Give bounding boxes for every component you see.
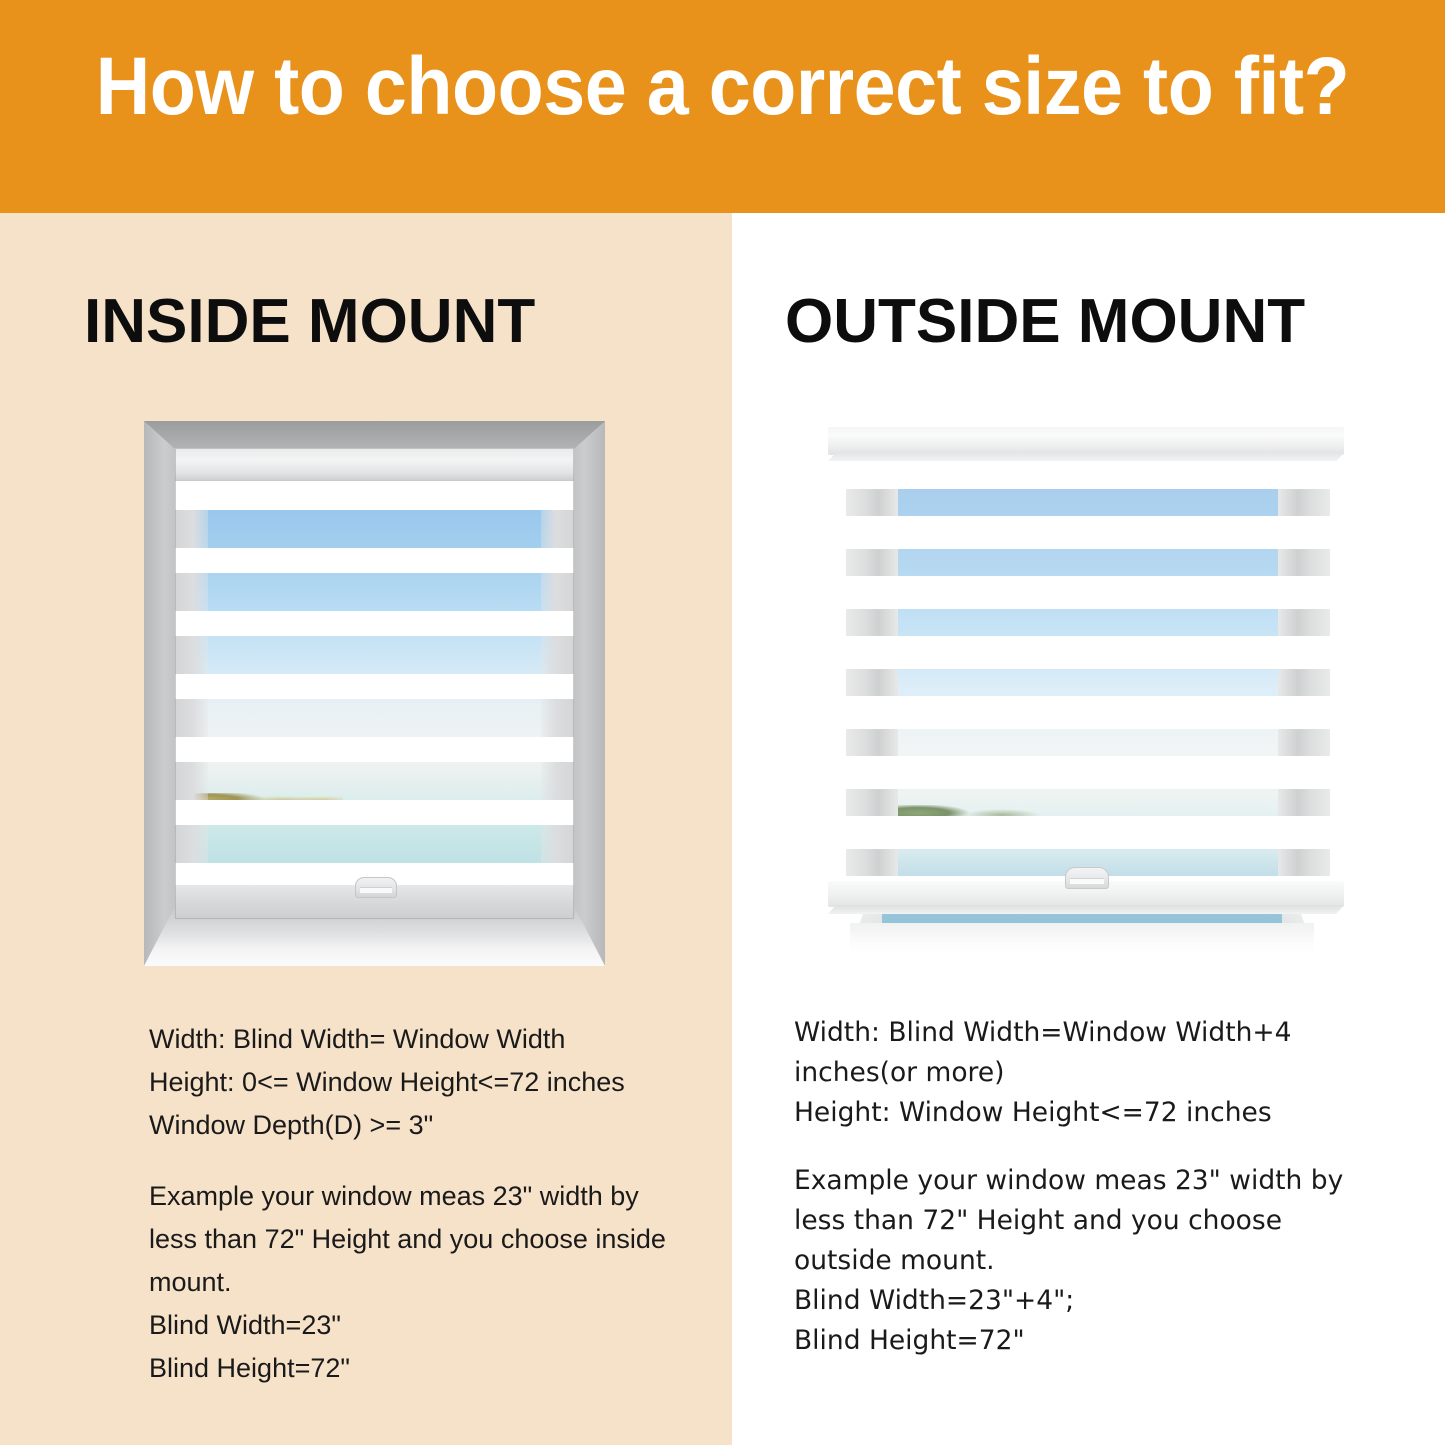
blind-slat	[846, 549, 1330, 576]
blind-slat-cap-right	[1278, 609, 1330, 636]
blind-sheer-band	[898, 609, 1278, 636]
inside-mount-heading: INSIDE MOUNT	[84, 291, 535, 353]
blind-slat-cap-left	[846, 549, 898, 576]
blind-slat-cap-left	[846, 489, 898, 516]
outside-mount-panel: OUTSIDE MOUNT	[732, 213, 1445, 1445]
window-reveal-top	[144, 421, 605, 451]
blind-sheer-band	[898, 789, 1278, 816]
blind-sheer-edge	[175, 825, 208, 863]
inside-mount-illustration	[144, 421, 605, 966]
outside-example-line: Blind Height=72"	[794, 1321, 1364, 1361]
blind-sheer-edge	[175, 699, 208, 737]
outside-spec-line: Width: Blind Width=Window Width+4	[794, 1013, 1364, 1053]
blind-opaque-band	[846, 576, 1330, 609]
blind-slat-cap-left	[846, 609, 898, 636]
blind-sheer-edge	[175, 510, 208, 548]
blind-slat-cap-right	[1278, 729, 1330, 756]
outside-example-line: Example your window meas 23" width by	[794, 1161, 1364, 1201]
comparison-panels: INSIDE MOUNT	[0, 213, 1445, 1445]
blind-opaque-band	[846, 696, 1330, 729]
blind-sheer-band	[898, 669, 1278, 696]
inside-spec-line: Width: Blind Width= Window Width	[149, 1018, 697, 1061]
blind-opaque-band	[175, 674, 574, 699]
window-opening	[175, 448, 574, 919]
blind-slat	[846, 729, 1330, 756]
blind-slat-cap-left	[846, 729, 898, 756]
blind-sheer-edge	[541, 636, 574, 674]
blind-sheer-edge	[541, 762, 574, 800]
blind-headrail	[828, 427, 1344, 455]
inside-example-line: Example your window meas 23" width by	[149, 1175, 697, 1218]
outside-example-line: outside mount.	[794, 1241, 1364, 1281]
blind-opaque-band	[175, 478, 574, 510]
blind-pull-handle[interactable]	[355, 877, 397, 898]
blind-slat	[846, 609, 1330, 636]
blind-opaque-band	[846, 636, 1330, 669]
paragraph-gap	[794, 1133, 1364, 1161]
blind-slat-cap-left	[846, 669, 898, 696]
blind-opaque-band	[846, 816, 1330, 849]
paragraph-gap	[149, 1147, 697, 1175]
inside-example-line: mount.	[149, 1261, 697, 1304]
blind-slat-cap-right	[1278, 489, 1330, 516]
inside-example-line: Blind Height=72"	[149, 1347, 697, 1390]
blind-slat-cap-right	[1278, 549, 1330, 576]
inside-spec-line: Window Depth(D) >= 3"	[149, 1104, 697, 1147]
window-apron	[850, 923, 1314, 953]
blind-slat-cap-left	[846, 849, 898, 876]
blind-opaque-band	[175, 548, 574, 573]
blind-opaque-band	[846, 756, 1330, 789]
blind-slat	[846, 789, 1330, 816]
inside-example-line: less than 72" Height and you choose insi…	[149, 1218, 697, 1261]
blind-sheer-band	[898, 549, 1278, 576]
blind-opaque-band	[175, 737, 574, 762]
blind-opaque-band	[175, 800, 574, 825]
zebra-blind	[175, 448, 574, 919]
blind-pull-handle[interactable]	[1065, 867, 1109, 889]
blind-sheer-edge	[541, 825, 574, 863]
zebra-blind	[820, 441, 1352, 901]
blind-slat-cap-right	[1278, 849, 1330, 876]
outside-spec-line: inches(or more)	[794, 1053, 1364, 1093]
blind-slat-cap-right	[1278, 669, 1330, 696]
blind-sheer-edge	[175, 573, 208, 611]
outside-mount-illustration	[820, 419, 1352, 966]
outside-spec-line: Height: Window Height<=72 inches	[794, 1093, 1364, 1133]
header-banner: How to choose a correct size to fit?	[0, 0, 1445, 213]
outside-example-line: less than 72" Height and you choose	[794, 1201, 1364, 1241]
outside-mount-copy: Width: Blind Width=Window Width+4 inches…	[794, 1013, 1364, 1361]
outside-example-line: Blind Width=23"+4";	[794, 1281, 1364, 1321]
window-reveal-left	[144, 421, 176, 966]
blind-slat-cap-right	[1278, 789, 1330, 816]
blind-slat-cap-left	[846, 789, 898, 816]
outside-mount-heading: OUTSIDE MOUNT	[785, 291, 1305, 353]
inside-mount-panel: INSIDE MOUNT	[0, 213, 732, 1445]
blind-slat	[846, 669, 1330, 696]
blind-sheer-edge	[175, 636, 208, 674]
blind-headrail	[175, 448, 574, 481]
blind-opaque-band	[175, 611, 574, 636]
blind-sheer-band	[898, 729, 1278, 756]
blind-sheer-edge	[541, 510, 574, 548]
blind-slat	[846, 489, 1330, 516]
blind-sheer-edge	[541, 573, 574, 611]
page-title: How to choose a correct size to fit?	[58, 46, 1387, 128]
blind-sheer-edge	[175, 762, 208, 800]
inside-spec-line: Height: 0<= Window Height<=72 inches	[149, 1061, 697, 1104]
blind-sheer-band	[898, 489, 1278, 516]
blind-opaque-band	[846, 516, 1330, 549]
inside-example-line: Blind Width=23"	[149, 1304, 697, 1347]
blind-sheer-edge	[541, 699, 574, 737]
window-reveal-right	[573, 421, 605, 966]
inside-mount-copy: Width: Blind Width= Window Width Height:…	[149, 1018, 697, 1390]
